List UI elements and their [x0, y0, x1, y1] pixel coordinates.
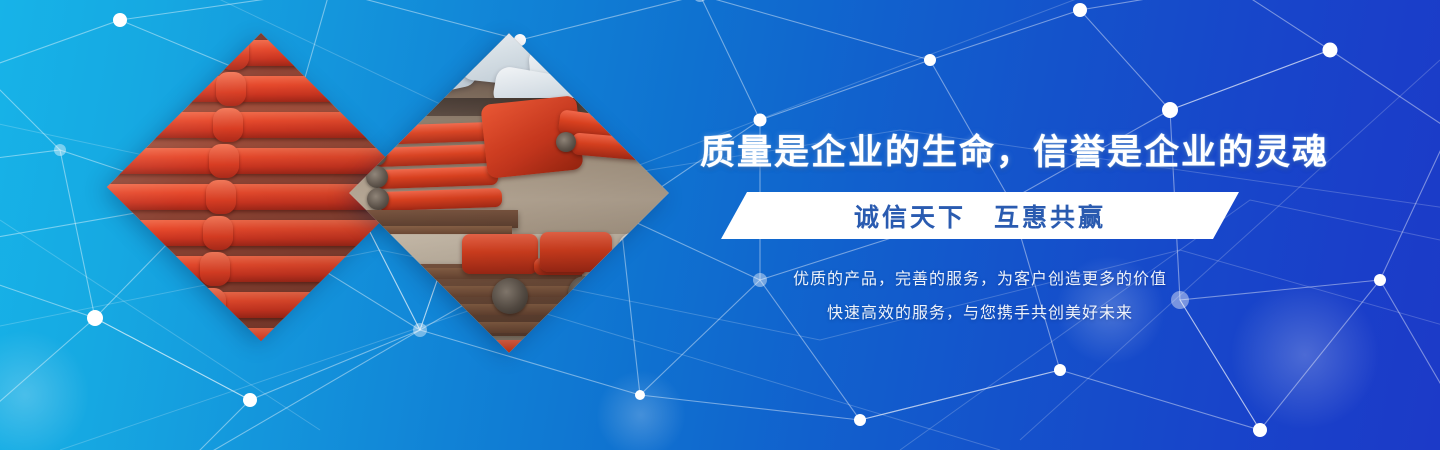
subtext-block: 优质的产品，完善的服务，为客户创造更多的价值 快速高效的服务，与您携手共创美好未… [700, 263, 1260, 331]
product-image-right-photo [349, 33, 669, 353]
bokeh-glow-2 [0, 330, 90, 450]
warehouse-pallet-scene [349, 33, 669, 353]
headline: 质量是企业的生命，信誉是企业的灵魂 [700, 128, 1260, 178]
promo-banner: 质量是企业的生命，信誉是企业的灵魂 诚信天下 互惠共赢 优质的产品，完善的服务，… [0, 0, 1440, 450]
subtext-line-1: 优质的产品，完善的服务，为客户创造更多的价值 [700, 263, 1260, 297]
product-image-right [349, 33, 669, 353]
slogan-text: 诚信天下 互惠共赢 [854, 198, 1106, 234]
banner-text-block: 质量是企业的生命，信誉是企业的灵魂 诚信天下 互惠共赢 优质的产品，完善的服务，… [700, 128, 1260, 331]
slogan-bar: 诚信天下 互惠共赢 [721, 192, 1239, 239]
bokeh-glow-4 [596, 370, 686, 450]
subtext-line-2: 快速高效的服务，与您携手共创美好未来 [700, 297, 1260, 331]
product-image-right-clip [349, 33, 669, 353]
